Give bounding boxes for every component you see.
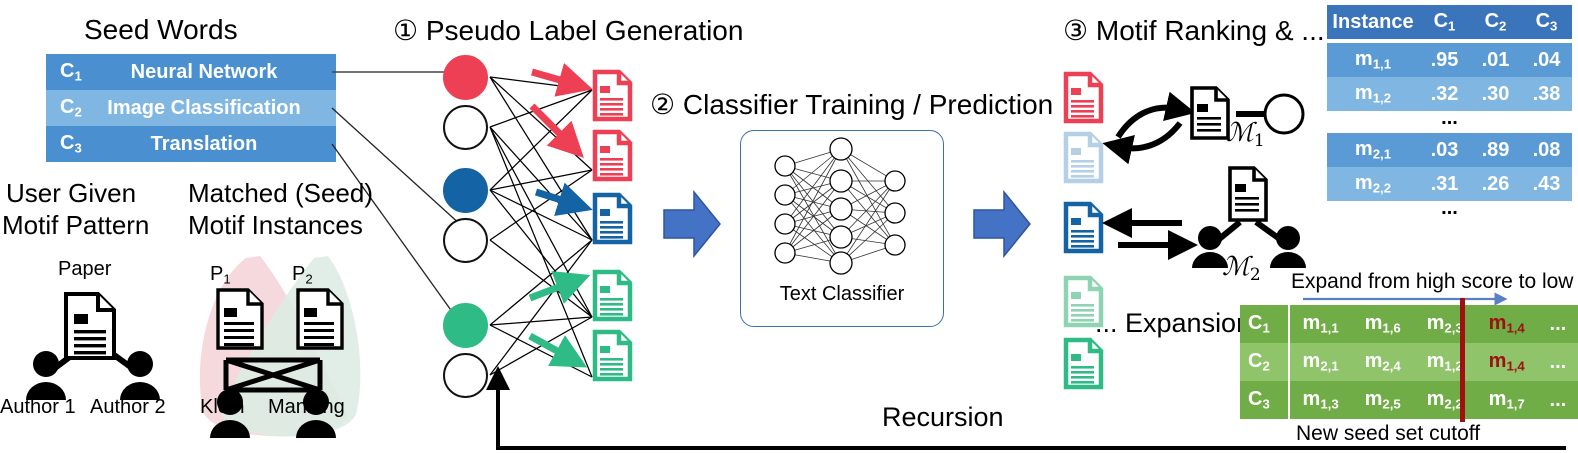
score-table: Instance C1 C2 C3 m1,1 .95 .01 .04 m1,2 … [1327, 5, 1572, 217]
score-cell: .30 [1470, 77, 1521, 111]
col-c1: C1 [1419, 5, 1470, 39]
instance-cell: m1,1 [1327, 43, 1419, 77]
step2-heading: ② Classifier Training / Prediction [650, 88, 1053, 121]
entity-node-circle [1265, 95, 1303, 133]
paper-node-label: Paper [58, 258, 111, 281]
arrow-to-classifier [662, 190, 724, 258]
score-table-ellipsis-1: ... [1327, 111, 1572, 127]
motif-m2-label: ℳ2 [1222, 252, 1261, 285]
seed-row[interactable]: C3 Translation [46, 126, 336, 162]
text-classifier-box: Text Classifier [740, 130, 944, 327]
person1-label: Klein [200, 396, 244, 419]
class-node-red[interactable] [443, 55, 488, 100]
table-row: m1,1 .95 .01 .04 [1327, 43, 1572, 77]
seed-word-label: Neural Network [106, 61, 336, 84]
seed-word-label: Image Classification [106, 97, 336, 120]
neural-network-icon [763, 141, 921, 271]
table-row: m1,2 .32 .30 .38 [1327, 77, 1572, 111]
instance-cell: m1,2 [1327, 77, 1419, 111]
author1-label: Author 1 [0, 396, 76, 419]
seed-words-table: C1 Neural Network C2 Image Classificatio… [46, 54, 336, 162]
score-cell: .89 [1470, 133, 1521, 167]
paper-icon [298, 290, 342, 348]
motif-pattern-graph [20, 282, 190, 392]
score-cell: .32 [1419, 77, 1470, 111]
person2-label: Manning [268, 396, 345, 419]
step1-heading: ① Pseudo Label Generation [393, 14, 743, 47]
score-cell: .01 [1470, 43, 1521, 77]
paper-icon [218, 290, 262, 348]
author2-label: Author 2 [90, 396, 166, 419]
score-cell: .31 [1419, 167, 1470, 201]
class-node-empty-2[interactable] [443, 218, 488, 263]
seed-row[interactable]: C2 Image Classification [46, 90, 336, 126]
paper-icon [1192, 88, 1228, 138]
paper-icon [66, 294, 114, 358]
class-node-green[interactable] [443, 303, 488, 348]
figure-canvas: Seed Words C1 Neural Network C2 Image Cl… [0, 0, 1578, 453]
table-row: m2,2 .31 .26 .43 [1327, 167, 1572, 201]
motif-match-arrows-top [1110, 95, 1190, 165]
p2-label: P2 [292, 263, 313, 287]
col-c3: C3 [1521, 5, 1572, 39]
arrow-to-ranking [972, 190, 1034, 258]
seed-class-label: C2 [46, 96, 106, 120]
document-icon-blue [1066, 204, 1101, 251]
document-icon-red [595, 72, 630, 119]
score-cell: .43 [1521, 167, 1572, 201]
seed-class-label: C1 [46, 60, 106, 84]
col-c2: C2 [1470, 5, 1521, 39]
person-icon [120, 351, 160, 400]
instance-cell: m2,1 [1327, 133, 1419, 167]
document-icon-blue [595, 195, 630, 242]
motif-instances-heading-line2: Motif Instances [188, 210, 363, 241]
score-cell: .03 [1419, 133, 1470, 167]
document-icon-light-blue [1066, 134, 1101, 181]
score-cell: .04 [1521, 43, 1572, 77]
seed-words-heading: Seed Words [84, 14, 238, 46]
seed-word-label: Translation [106, 133, 336, 156]
paper-icon [1230, 168, 1266, 220]
step3-heading: ③ Motif Ranking & ... [1063, 14, 1325, 47]
motif-pattern-heading-line2: Motif Pattern [2, 210, 149, 241]
class-node-empty-1[interactable] [443, 105, 488, 150]
score-cell: .08 [1521, 133, 1572, 167]
seed-row[interactable]: C1 Neural Network [46, 54, 336, 90]
recursion-label: Recursion [882, 402, 1004, 433]
instance-cell: m2,2 [1327, 167, 1419, 201]
class-node-blue[interactable] [443, 168, 488, 213]
score-table-ellipsis-2: ... [1327, 201, 1572, 217]
expand-caption: Expand from high score to low [1291, 270, 1573, 294]
person-icon [26, 351, 66, 400]
motif-instances-heading-line1: Matched (Seed) [188, 178, 373, 209]
score-cell: .26 [1470, 167, 1521, 201]
score-cell: .38 [1521, 77, 1572, 111]
score-table-header-row: Instance C1 C2 C3 [1327, 5, 1572, 39]
class-node-empty-3[interactable] [443, 353, 488, 398]
document-icon-red [1066, 74, 1101, 121]
p1-label: P1 [210, 263, 231, 287]
document-icon-red [595, 132, 630, 179]
motif-pattern-heading-line1: User Given [6, 178, 136, 209]
score-cell: .95 [1419, 43, 1470, 77]
recursion-arrow [486, 302, 1576, 450]
col-instance: Instance [1327, 5, 1419, 39]
seed-class-label: C3 [46, 132, 106, 156]
table-row: m2,1 .03 .89 .08 [1327, 133, 1572, 167]
motif-match-arrows-bottom [1110, 205, 1190, 265]
motif-m1-label: ℳ1 [1226, 118, 1265, 151]
